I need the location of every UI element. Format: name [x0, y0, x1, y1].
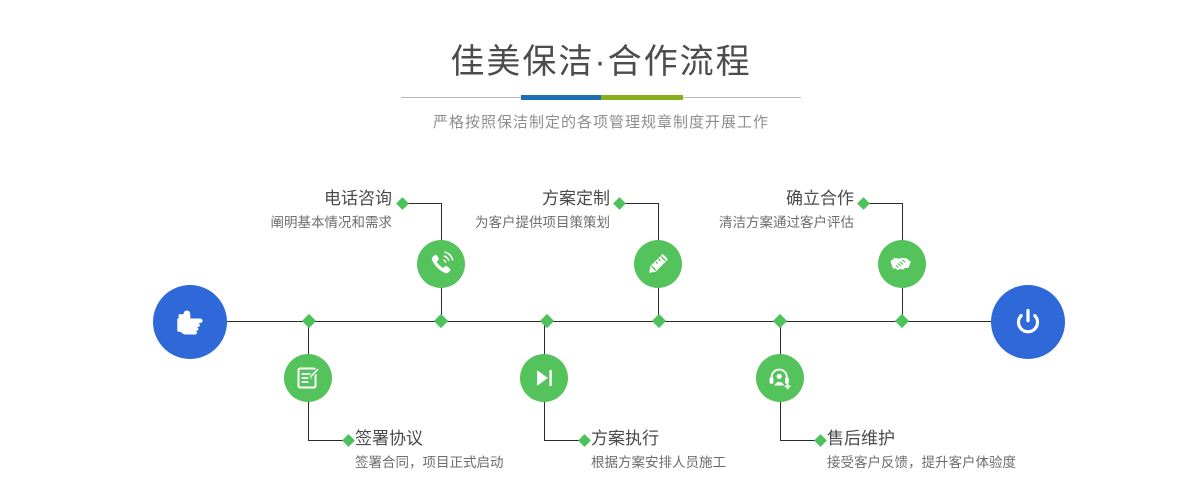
support-headset-icon: [766, 364, 794, 392]
axis-marker-step-1: [302, 314, 316, 328]
step-desc-6: 清洁方案通过客户评估: [610, 213, 854, 233]
label-marker-step-2: [342, 434, 355, 447]
play-execute-icon: [530, 364, 558, 392]
timeline-end-node[interactable]: [991, 285, 1065, 359]
step-title-2: 签署协议: [355, 428, 615, 450]
pointing-hand-icon: [170, 302, 210, 342]
axis-marker-step-3: [540, 314, 554, 328]
document-sign-icon: [294, 364, 322, 392]
step-icon-document-sign[interactable]: [284, 354, 332, 402]
step-title-6: 确立合作: [610, 188, 854, 210]
step-desc-4: 根据方案安排人员施工: [591, 453, 851, 473]
flow-diagram-page: 佳美保洁·合作流程 严格按照保洁制定的各项管理规章制度开展工作: [0, 0, 1202, 502]
step-desc-1: 阐明基本情况和需求: [150, 213, 392, 233]
step-title-3: 方案定制: [370, 188, 610, 210]
power-icon: [1008, 302, 1048, 342]
axis-marker-step-5: [895, 314, 909, 328]
step-icon-phone-call[interactable]: [417, 240, 465, 288]
step-label-4: 方案执行 根据方案安排人员施工: [591, 428, 851, 473]
step-label-1: 电话咨询 阐明基本情况和需求: [150, 188, 392, 233]
process-timeline: 电话咨询 阐明基本情况和需求 签署协议 签署合同，项目正式启动: [0, 0, 1202, 502]
phone-call-icon: [427, 250, 455, 278]
axis-marker-step-6: [773, 314, 787, 328]
step-icon-support-headset[interactable]: [756, 354, 804, 402]
label-marker-step-6: [857, 197, 870, 210]
handshake-icon: [888, 250, 916, 278]
step-icon-pencil-plan[interactable]: [634, 240, 682, 288]
pencil-plan-icon: [644, 250, 672, 278]
step-label-2: 签署协议 签署合同，项目正式启动: [355, 428, 615, 473]
step-label-3: 方案定制 为客户提供项目策策划: [370, 188, 610, 233]
timeline-start-node[interactable]: [153, 285, 227, 359]
step-desc-5: 接受客户反馈，提升客户体验度: [827, 453, 1107, 473]
axis-marker-step-4: [652, 314, 666, 328]
step-title-1: 电话咨询: [150, 188, 392, 210]
step-desc-3: 为客户提供项目策策划: [370, 213, 610, 233]
step-icon-play-execute[interactable]: [520, 354, 568, 402]
step-label-6: 确立合作 清洁方案通过客户评估: [610, 188, 854, 233]
step-icon-handshake[interactable]: [878, 240, 926, 288]
step-title-5: 售后维护: [827, 428, 1107, 450]
step-title-4: 方案执行: [591, 428, 851, 450]
step-desc-2: 签署合同，项目正式启动: [355, 453, 615, 473]
step-label-5: 售后维护 接受客户反馈，提升客户体验度: [827, 428, 1107, 473]
axis-marker-step-2: [434, 314, 448, 328]
